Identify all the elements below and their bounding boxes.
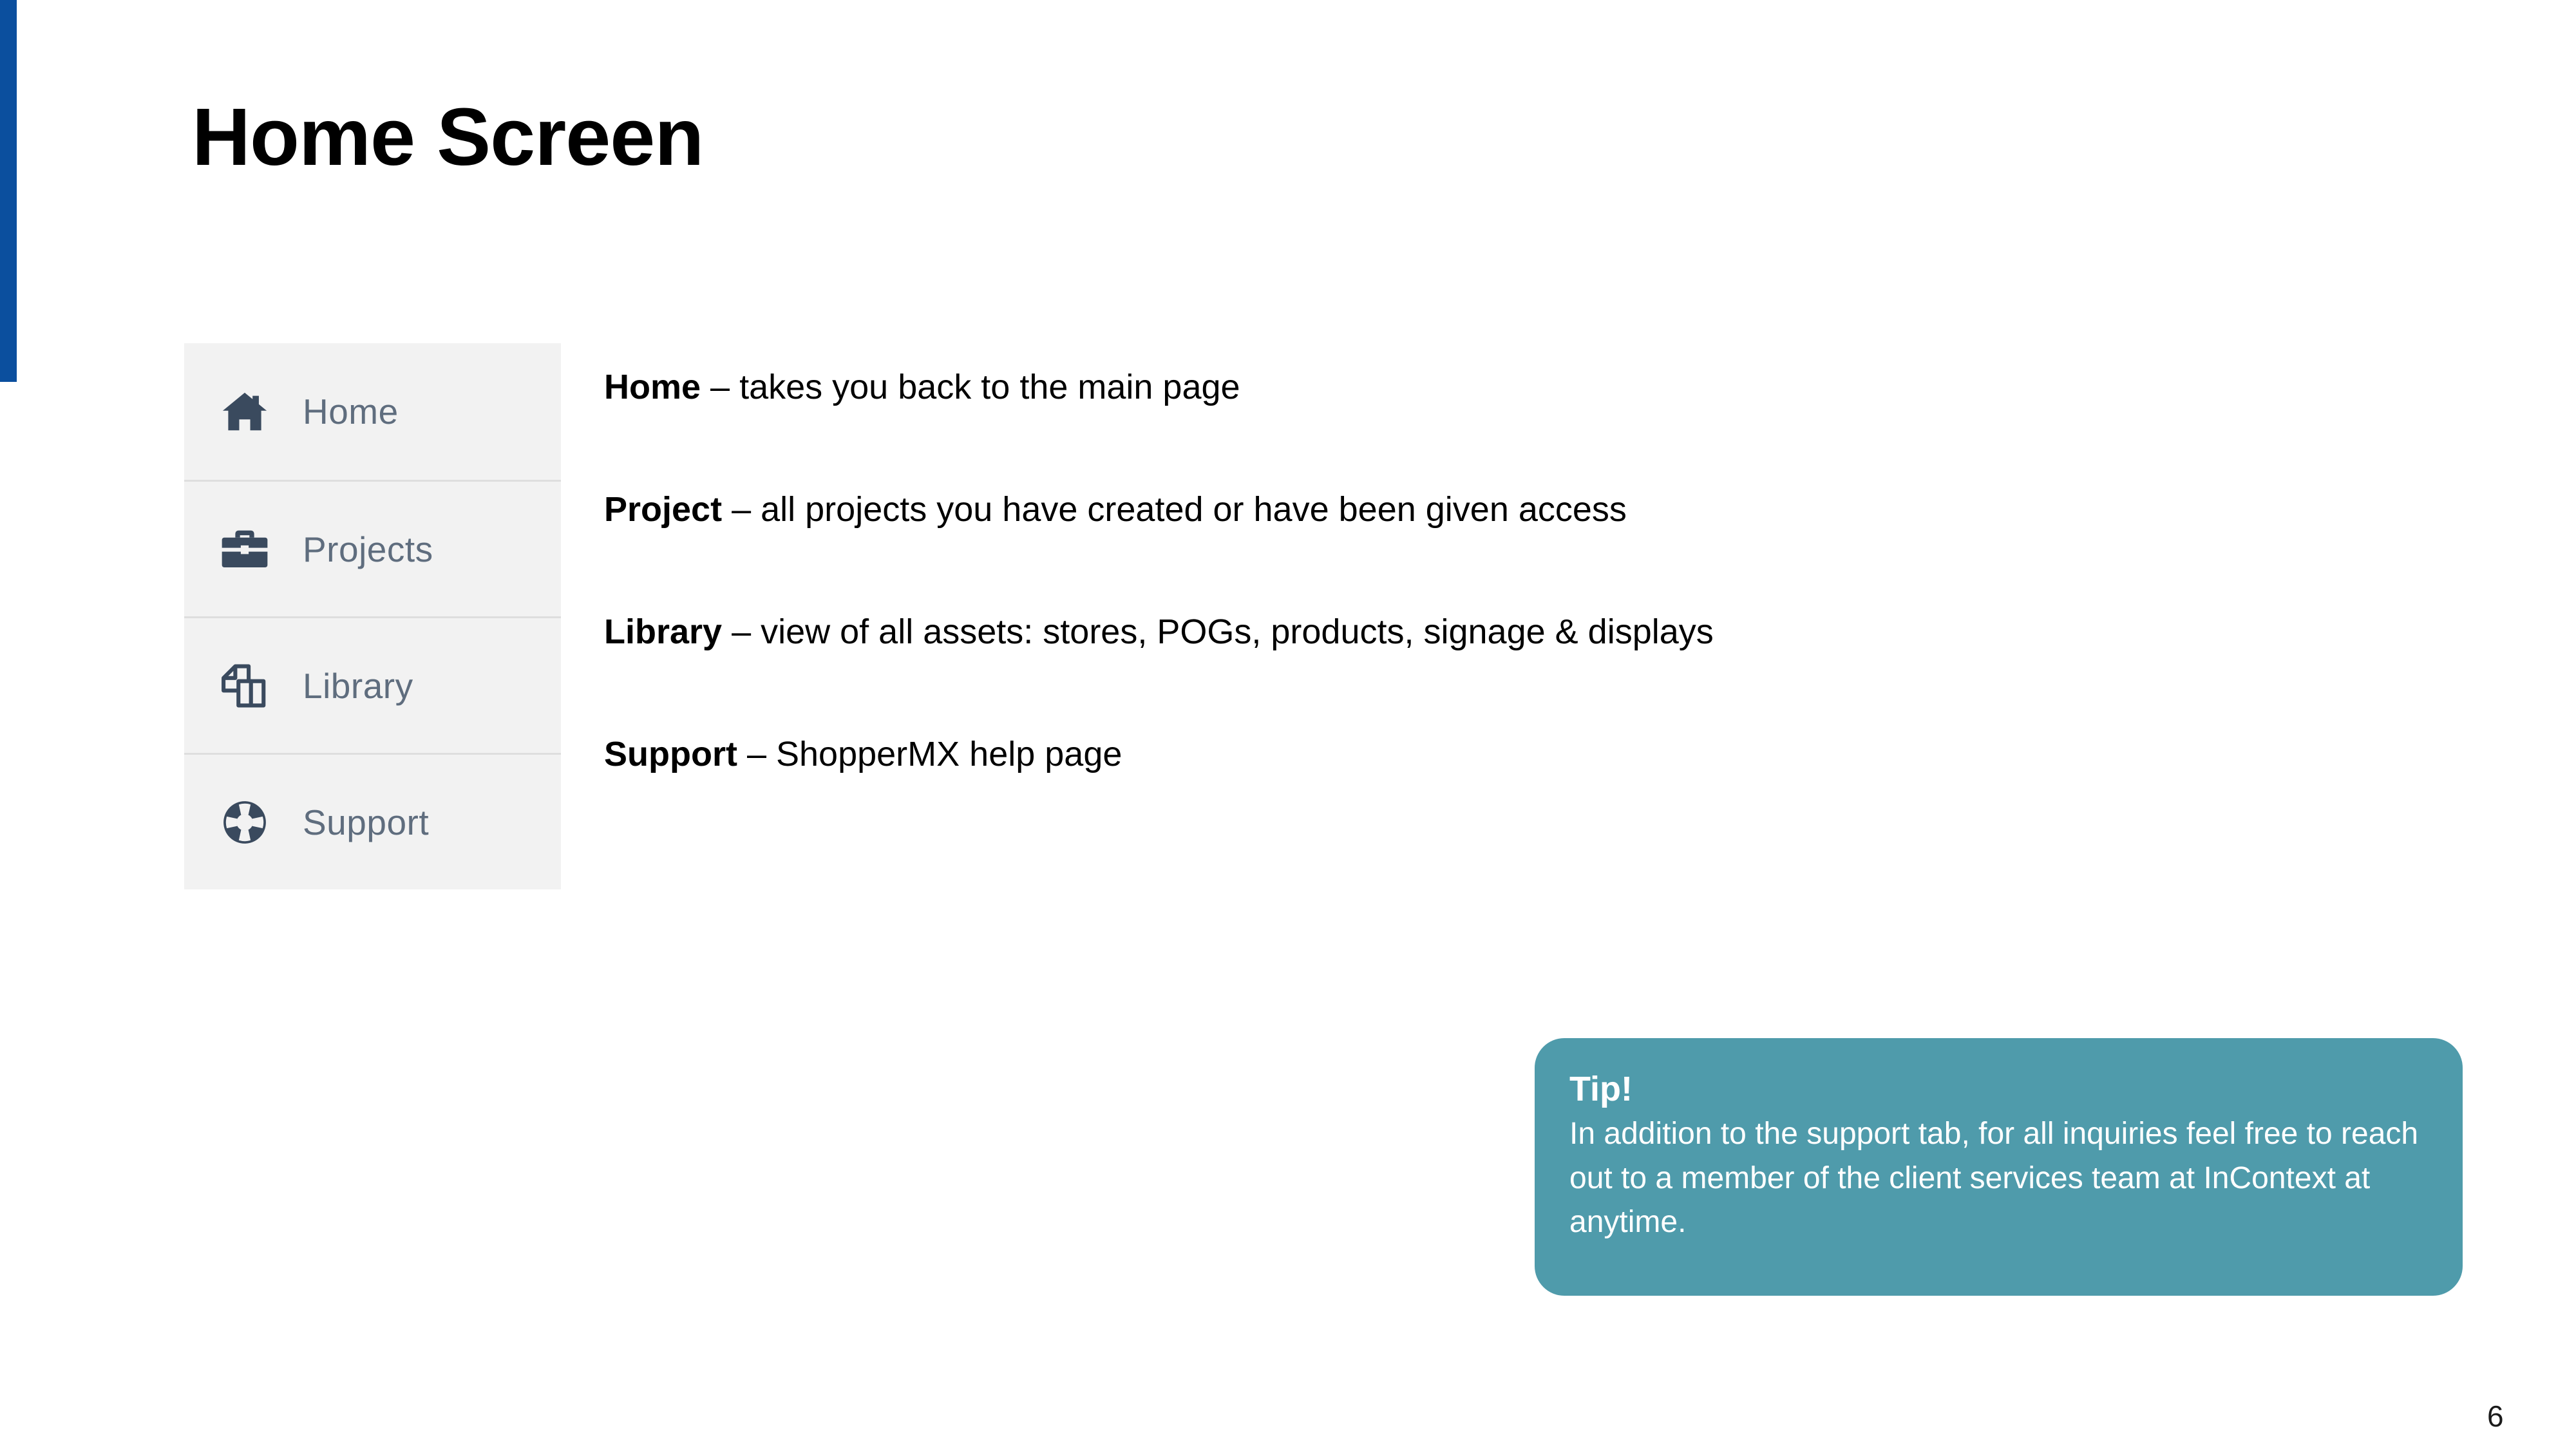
life-ring-icon bbox=[215, 793, 274, 852]
description-rest: – ShopperMX help page bbox=[737, 735, 1122, 773]
tip-body: In addition to the support tab, for all … bbox=[1569, 1112, 2428, 1244]
sidebar-item-library[interactable]: Library bbox=[184, 616, 561, 753]
sidebar-item-support[interactable]: Support bbox=[184, 753, 561, 889]
tip-title: Tip! bbox=[1569, 1070, 2428, 1108]
description-rest: – all projects you have created or have … bbox=[722, 490, 1627, 529]
description-row-home: Home – takes you back to the main page bbox=[604, 367, 2150, 489]
sidebar-item-label: Support bbox=[303, 802, 429, 843]
description-row-project: Project – all projects you have created … bbox=[604, 489, 2150, 612]
library-pages-icon bbox=[215, 656, 274, 715]
description-line: Support – ShopperMX help page bbox=[604, 734, 1122, 774]
app-navigation-sidebar: Home Projects Library bbox=[184, 343, 561, 889]
description-line: Home – takes you back to the main page bbox=[604, 367, 1240, 407]
home-icon bbox=[215, 382, 274, 441]
description-rest: – takes you back to the main page bbox=[701, 368, 1240, 406]
sidebar-item-projects[interactable]: Projects bbox=[184, 480, 561, 616]
nav-descriptions-list: Home – takes you back to the main page P… bbox=[604, 367, 2150, 857]
description-row-support: Support – ShopperMX help page bbox=[604, 734, 2150, 857]
description-term: Home bbox=[604, 368, 701, 406]
page-title: Home Screen bbox=[192, 93, 703, 182]
sidebar-item-home[interactable]: Home bbox=[184, 343, 561, 480]
description-line: Project – all projects you have created … bbox=[604, 489, 1627, 529]
sidebar-item-label: Home bbox=[303, 391, 399, 432]
tip-callout: Tip! In addition to the support tab, for… bbox=[1535, 1038, 2463, 1296]
description-term: Library bbox=[604, 612, 722, 651]
left-accent-bar bbox=[0, 0, 17, 382]
description-row-library: Library – view of all assets: stores, PO… bbox=[604, 612, 2150, 734]
description-term: Project bbox=[604, 490, 722, 529]
sidebar-item-label: Library bbox=[303, 665, 413, 706]
description-rest: – view of all assets: stores, POGs, prod… bbox=[722, 612, 1714, 651]
slide-canvas: Home Screen Home Projects bbox=[0, 0, 2576, 1449]
description-line: Library – view of all assets: stores, PO… bbox=[604, 612, 1714, 652]
page-number: 6 bbox=[2487, 1399, 2504, 1434]
sidebar-item-label: Projects bbox=[303, 529, 433, 570]
description-term: Support bbox=[604, 735, 737, 773]
briefcase-icon bbox=[215, 520, 274, 579]
